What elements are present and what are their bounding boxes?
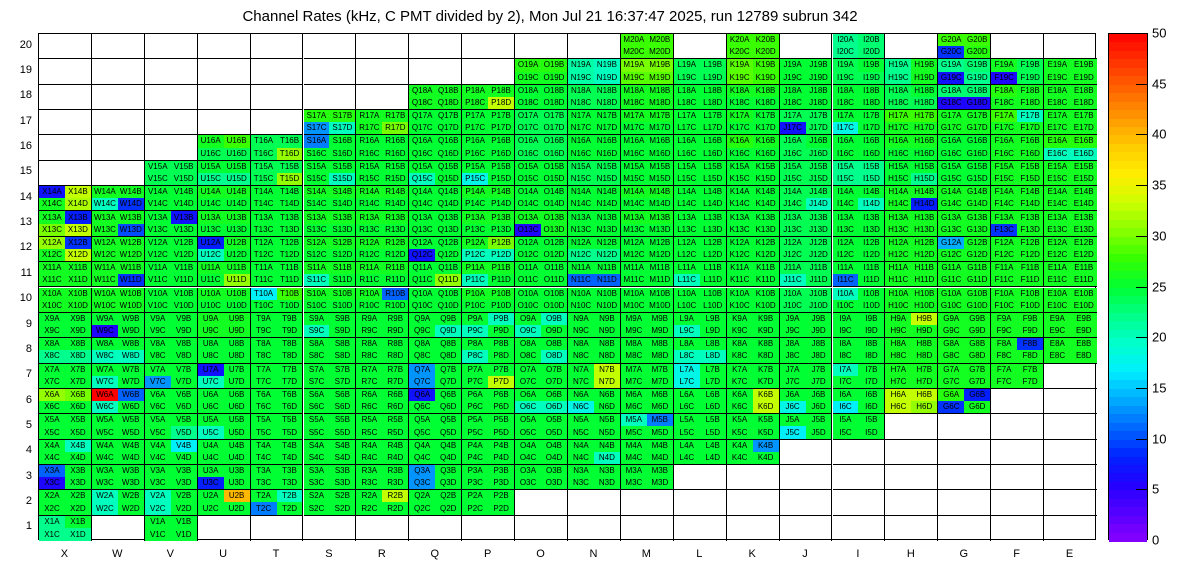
- channel-quadrant: K10B: [753, 288, 779, 300]
- channel-quadrant: J7B: [806, 364, 832, 376]
- heatmap-cell: [409, 516, 462, 541]
- channel-quadrant: I7D: [858, 376, 884, 388]
- channel-quadrant: L12A: [674, 237, 700, 249]
- channel-quadrant: G10B: [964, 288, 990, 300]
- channel-quadrant: T8C: [251, 350, 277, 362]
- channel-quadrant: X12B: [65, 237, 91, 249]
- channel-quadrant: H9A: [885, 313, 911, 325]
- channel-quadrant: Q3D: [435, 477, 461, 489]
- channel-quadrant: I18D: [858, 97, 884, 109]
- channel-quadrant: S17C: [304, 122, 330, 134]
- channel-quadrant: U9A: [198, 313, 224, 325]
- channel-quadrant: J15B: [806, 161, 832, 173]
- channel-quadrant: K12C: [727, 249, 753, 261]
- heatmap-cell: V13AV13BV13CV13D: [145, 211, 198, 236]
- heatmap-cell: O3AO3BO3CO3D: [515, 465, 568, 490]
- heatmap-cell: W7AW7BW7CW7D: [92, 364, 145, 389]
- heatmap-cell: L10AL10BL10CL10D: [674, 288, 727, 313]
- channel-quadrant: T9B: [277, 313, 303, 325]
- heatmap-cell: I5AI5BI5CI5D: [833, 414, 886, 439]
- channel-quadrant: X2A: [39, 490, 65, 502]
- colorbar-tick-label: 10: [1152, 431, 1166, 446]
- channel-quadrant: J12A: [780, 237, 806, 249]
- heatmap-cell: [1044, 516, 1097, 541]
- channel-quadrant: J13D: [806, 224, 832, 236]
- channel-quadrant: T12A: [251, 237, 277, 249]
- heatmap-cell: E18AE18BE18CE18D: [1044, 85, 1097, 110]
- page-title: Channel Rates (kHz, C PMT divided by 2),…: [0, 8, 1100, 25]
- channel-quadrant: R11D: [382, 274, 408, 286]
- channel-quadrant: P18C: [462, 97, 488, 109]
- channel-quadrant: T2B: [277, 490, 303, 502]
- channel-quadrant: P14B: [488, 186, 514, 198]
- channel-quadrant: K13B: [753, 211, 779, 223]
- channel-quadrant: R9C: [356, 325, 382, 337]
- heatmap-cell: [885, 34, 938, 59]
- channel-quadrant: K6A: [727, 389, 753, 401]
- channel-quadrant: V12B: [171, 237, 197, 249]
- heatmap-cell: M14AM14BM14CM14D: [621, 186, 674, 211]
- heatmap-cell: Q3AQ3BQ3CQ3D: [409, 465, 462, 490]
- heatmap-cell: G12AG12BG12CG12D: [938, 237, 991, 262]
- heatmap-cell: G6AG6BG6CG6D: [938, 389, 991, 414]
- channel-quadrant: R14D: [382, 198, 408, 210]
- channel-quadrant: N14D: [594, 198, 620, 210]
- channel-quadrant: J15C: [780, 173, 806, 185]
- channel-quadrant: J17B: [806, 110, 832, 122]
- channel-quadrant: O16B: [541, 135, 567, 147]
- channel-quadrant: G14A: [938, 186, 964, 198]
- heatmap-cell: E12AE12BE12CE12D: [1044, 237, 1097, 262]
- channel-quadrant: H17C: [885, 122, 911, 134]
- heatmap-cell: I9AI9BI9CI9D: [833, 313, 886, 338]
- heatmap-cell: [251, 59, 304, 84]
- colorbar-tick-label: 20: [1152, 330, 1166, 345]
- channel-quadrant: M19A: [621, 59, 647, 71]
- heatmap-cell: F13AF13BF13CF13D: [991, 211, 1044, 236]
- heatmap-cell: S5AS5BS5CS5D: [304, 414, 357, 439]
- channel-quadrant: P11A: [462, 262, 488, 274]
- y-axis-tick-label: 15: [2, 165, 32, 177]
- channel-quadrant: E16B: [1071, 135, 1097, 147]
- channel-quadrant: L5C: [674, 426, 700, 438]
- channel-quadrant: L13C: [674, 224, 700, 236]
- channel-quadrant: R17A: [356, 110, 382, 122]
- channel-quadrant: S11D: [329, 274, 355, 286]
- channel-quadrant: R8C: [356, 350, 382, 362]
- heatmap-cell: P2AP2BP2CP2D: [462, 490, 515, 515]
- channel-quadrant: M15A: [621, 161, 647, 173]
- channel-quadrant: V5A: [145, 414, 171, 426]
- channel-quadrant: Q18A: [409, 85, 435, 97]
- channel-quadrant: P5C: [462, 426, 488, 438]
- channel-quadrant: H9B: [911, 313, 937, 325]
- channel-quadrant: I14B: [858, 186, 884, 198]
- channel-quadrant: O10B: [541, 288, 567, 300]
- channel-quadrant: X9C: [39, 325, 65, 337]
- channel-quadrant: U3D: [224, 477, 250, 489]
- channel-quadrant: R10C: [356, 300, 382, 312]
- channel-quadrant: F11B: [1017, 262, 1043, 274]
- channel-quadrant: W8A: [92, 338, 118, 350]
- channel-quadrant: F16D: [1017, 148, 1043, 160]
- channel-quadrant: J17A: [780, 110, 806, 122]
- channel-quadrant: V8C: [145, 350, 171, 362]
- channel-quadrant: I8B: [858, 338, 884, 350]
- channel-quadrant: K5D: [753, 426, 779, 438]
- channel-quadrant: K9C: [727, 325, 753, 337]
- colorbar-tick-label: 25: [1152, 279, 1166, 294]
- heatmap-cell: O19AO19BO19CO19D: [515, 59, 568, 84]
- heatmap-cell: K12AK12BK12CK12D: [727, 237, 780, 262]
- channel-quadrant: M20B: [647, 34, 673, 46]
- channel-quadrant: I18C: [833, 97, 859, 109]
- channel-quadrant: N17D: [594, 122, 620, 134]
- channel-quadrant: N12B: [594, 237, 620, 249]
- channel-quadrant: V4D: [171, 452, 197, 464]
- channel-quadrant: X6A: [39, 389, 65, 401]
- channel-quadrant: O7A: [515, 364, 541, 376]
- channel-quadrant: I20A: [833, 34, 859, 46]
- channel-quadrant: G12C: [938, 249, 964, 261]
- channel-quadrant: O14B: [541, 186, 567, 198]
- heatmap-cell: L13AL13BL13CL13D: [674, 211, 727, 236]
- channel-quadrant: P9A: [462, 313, 488, 325]
- channel-quadrant: V1A: [145, 516, 171, 529]
- channel-quadrant: T10B: [277, 288, 303, 300]
- channel-quadrant: M4B: [647, 440, 673, 452]
- channel-quadrant: L12B: [700, 237, 726, 249]
- channel-quadrant: F18A: [991, 85, 1017, 97]
- channel-quadrant: R14B: [382, 186, 408, 198]
- channel-quadrant: R8B: [382, 338, 408, 350]
- heatmap-cell: F11AF11BF11CF11D: [991, 262, 1044, 287]
- channel-quadrant: N12A: [568, 237, 594, 249]
- channel-quadrant: X3A: [39, 465, 65, 477]
- channel-quadrant: K4C: [727, 452, 753, 464]
- heatmap-cell: Q4AQ4BQ4CQ4D: [409, 440, 462, 465]
- channel-quadrant: V2C: [145, 502, 171, 514]
- channel-quadrant: T9D: [277, 325, 303, 337]
- channel-quadrant: K9B: [753, 313, 779, 325]
- heatmap-cell: J7AJ7BJ7CJ7D: [780, 364, 833, 389]
- heatmap-cell: M15AM15BM15CM15D: [621, 161, 674, 186]
- heatmap-cell: P11AP11BP11CP11D: [462, 262, 515, 287]
- channel-quadrant: N14B: [594, 186, 620, 198]
- channel-quadrant: S9A: [304, 313, 330, 325]
- channel-quadrant: G17D: [964, 122, 990, 134]
- heatmap-cell: O5AO5BO5CO5D: [515, 414, 568, 439]
- heatmap-cell: [991, 465, 1044, 490]
- heatmap-cell: [198, 59, 251, 84]
- channel-quadrant: V9D: [171, 325, 197, 337]
- channel-quadrant: Q15A: [409, 161, 435, 173]
- channel-quadrant: G8D: [964, 350, 990, 362]
- channel-quadrant: O12D: [541, 249, 567, 261]
- channel-quadrant: F16A: [991, 135, 1017, 147]
- channel-quadrant: I5A: [833, 414, 859, 426]
- channel-quadrant: T5C: [251, 426, 277, 438]
- heatmap-cell: G17AG17BG17CG17D: [938, 110, 991, 135]
- heatmap-cell: T13AT13BT13CT13D: [251, 211, 304, 236]
- channel-quadrant: O13D: [541, 224, 567, 236]
- channel-quadrant: P16B: [488, 135, 514, 147]
- channel-quadrant: W7B: [118, 364, 144, 376]
- heatmap-cell: [780, 440, 833, 465]
- channel-quadrant: W8D: [118, 350, 144, 362]
- heatmap-cell: T2AT2BT2CT2D: [251, 490, 304, 515]
- channel-quadrant: J18A: [780, 85, 806, 97]
- heatmap-cell: [409, 59, 462, 84]
- channel-quadrant: T6A: [251, 389, 277, 401]
- channel-quadrant: K14D: [753, 198, 779, 210]
- channel-quadrant: P17D: [488, 122, 514, 134]
- channel-quadrant: G6C: [938, 401, 964, 413]
- channel-quadrant: I13C: [833, 224, 859, 236]
- channel-quadrant: T14B: [277, 186, 303, 198]
- channel-quadrant: U7B: [224, 364, 250, 376]
- channel-quadrant: G16B: [964, 135, 990, 147]
- heatmap-cell: [885, 490, 938, 515]
- y-axis-tick-label: 6: [2, 394, 32, 406]
- channel-quadrant: K11B: [753, 262, 779, 274]
- heatmap-cell: L18AL18BL18CL18D: [674, 85, 727, 110]
- channel-quadrant: Q4B: [435, 440, 461, 452]
- channel-quadrant: J9A: [780, 313, 806, 325]
- channel-quadrant: F10A: [991, 288, 1017, 300]
- x-axis-tick-label: E: [1043, 548, 1097, 560]
- heatmap-cell: N17AN17BN17CN17D: [568, 110, 621, 135]
- channel-quadrant: O5A: [515, 414, 541, 426]
- heatmap-cell: G15AG15BG15CG15D: [938, 161, 991, 186]
- channel-quadrant: Q8A: [409, 338, 435, 350]
- channel-quadrant: H15D: [911, 173, 937, 185]
- heatmap-cell: P8AP8BP8CP8D: [462, 338, 515, 363]
- channel-quadrant: S5A: [304, 414, 330, 426]
- y-axis-tick-label: 10: [2, 292, 32, 304]
- channel-quadrant: X12D: [65, 249, 91, 261]
- channel-quadrant: P16C: [462, 148, 488, 160]
- channel-quadrant: G14C: [938, 198, 964, 210]
- channel-quadrant: L18A: [674, 85, 700, 97]
- channel-quadrant: I18A: [833, 85, 859, 97]
- channel-quadrant: T3D: [277, 477, 303, 489]
- heatmap-cell: M8AM8BM8CM8D: [621, 338, 674, 363]
- channel-quadrant: V5D: [171, 426, 197, 438]
- channel-quadrant: W6D: [118, 401, 144, 413]
- channel-quadrant: P6A: [462, 389, 488, 401]
- heatmap-cell: O8AO8BO8CO8D: [515, 338, 568, 363]
- channel-quadrant: W14C: [92, 198, 118, 210]
- channel-quadrant: G9C: [938, 325, 964, 337]
- channel-quadrant: Q15C: [409, 173, 435, 185]
- channel-quadrant: M15D: [647, 173, 673, 185]
- channel-quadrant: M10B: [647, 288, 673, 300]
- heatmap-cell: V8AV8BV8CV8D: [145, 338, 198, 363]
- channel-quadrant: G8B: [964, 338, 990, 350]
- heatmap-cell: Q12AQ12BQ12CQ12D: [409, 237, 462, 262]
- channel-quadrant: H10B: [911, 288, 937, 300]
- channel-quadrant: N19B: [594, 59, 620, 71]
- channel-quadrant: E17B: [1071, 110, 1097, 122]
- channel-quadrant: L10A: [674, 288, 700, 300]
- heatmap-cell: R3AR3BR3CR3D: [356, 465, 409, 490]
- channel-quadrant: S10C: [304, 300, 330, 312]
- heatmap-cell: K18AK18BK18CK18D: [727, 85, 780, 110]
- channel-quadrant: M20C: [621, 46, 647, 58]
- channel-quadrant: P13B: [488, 211, 514, 223]
- channel-quadrant: S12B: [329, 237, 355, 249]
- channel-quadrant: Q8D: [435, 350, 461, 362]
- channel-quadrant: J18D: [806, 97, 832, 109]
- heatmap-cell: E9AE9BE9CE9D: [1044, 313, 1097, 338]
- channel-quadrant: R5C: [356, 426, 382, 438]
- channel-quadrant: K8D: [753, 350, 779, 362]
- channel-quadrant: I19D: [858, 72, 884, 84]
- channel-quadrant: H7C: [885, 376, 911, 388]
- channel-quadrant: N9C: [568, 325, 594, 337]
- channel-rate-heatmap: M20AM20BM20CM20DK20AK20BK20CK20DI20AI20B…: [38, 33, 1096, 540]
- channel-quadrant: I6D: [858, 401, 884, 413]
- channel-quadrant: K12A: [727, 237, 753, 249]
- heatmap-cell: Q11AQ11BQ11CQ11D: [409, 262, 462, 287]
- channel-quadrant: T4D: [277, 452, 303, 464]
- heatmap-cell: N7AN7BN7CN7D: [568, 364, 621, 389]
- channel-quadrant: P4B: [488, 440, 514, 452]
- channel-quadrant: O16D: [541, 148, 567, 160]
- channel-quadrant: F10D: [1017, 300, 1043, 312]
- channel-quadrant: J6C: [780, 401, 806, 413]
- channel-quadrant: V12C: [145, 249, 171, 261]
- channel-quadrant: V9C: [145, 325, 171, 337]
- channel-quadrant: T14D: [277, 198, 303, 210]
- channel-quadrant: F16C: [991, 148, 1017, 160]
- channel-quadrant: M7D: [647, 376, 673, 388]
- channel-quadrant: L6C: [674, 401, 700, 413]
- heatmap-cell: L12AL12BL12CL12D: [674, 237, 727, 262]
- channel-quadrant: O17B: [541, 110, 567, 122]
- channel-quadrant: W3C: [92, 477, 118, 489]
- channel-quadrant: Q12D: [435, 249, 461, 261]
- channel-quadrant: R15C: [356, 173, 382, 185]
- channel-quadrant: X13A: [39, 211, 65, 223]
- channel-quadrant: Q10A: [409, 288, 435, 300]
- channel-quadrant: I20D: [858, 46, 884, 58]
- channel-quadrant: G11C: [938, 274, 964, 286]
- heatmap-cell: [833, 516, 886, 541]
- heatmap-cell: [251, 516, 304, 541]
- heatmap-cell: [833, 465, 886, 490]
- heatmap-cell: K8AK8BK8CK8D: [727, 338, 780, 363]
- channel-quadrant: V4C: [145, 452, 171, 464]
- heatmap-cell: Q13AQ13BQ13CQ13D: [409, 211, 462, 236]
- heatmap-cell: R9AR9BR9CR9D: [356, 313, 409, 338]
- channel-quadrant: K16B: [753, 135, 779, 147]
- heatmap-cell: [1044, 465, 1097, 490]
- channel-quadrant: O13A: [515, 211, 541, 223]
- channel-quadrant: G15A: [938, 161, 964, 173]
- channel-quadrant: W2B: [118, 490, 144, 502]
- channel-quadrant: I7B: [858, 364, 884, 376]
- channel-quadrant: R5B: [382, 414, 408, 426]
- heatmap-cell: E14AE14BE14CE14D: [1044, 186, 1097, 211]
- channel-quadrant: P15B: [488, 161, 514, 173]
- heatmap-cell: N9AN9BN9CN9D: [568, 313, 621, 338]
- channel-quadrant: N16B: [594, 135, 620, 147]
- channel-quadrant: P7C: [462, 376, 488, 388]
- heatmap-cell: W12AW12BW12CW12D: [92, 237, 145, 262]
- channel-quadrant: F16B: [1017, 135, 1043, 147]
- heatmap-cell: I10AI10BI10CI10D: [833, 288, 886, 313]
- channel-quadrant: Q14A: [409, 186, 435, 198]
- channel-quadrant: G13D: [964, 224, 990, 236]
- channel-quadrant: N9D: [594, 325, 620, 337]
- channel-quadrant: K17B: [753, 110, 779, 122]
- heatmap-cell: O14AO14BO14CO14D: [515, 186, 568, 211]
- channel-quadrant: G20A: [938, 34, 964, 46]
- heatmap-cell: [991, 516, 1044, 541]
- channel-quadrant: O6A: [515, 389, 541, 401]
- channel-quadrant: M6C: [621, 401, 647, 413]
- channel-quadrant: H7D: [911, 376, 937, 388]
- channel-quadrant: L16C: [674, 148, 700, 160]
- channel-quadrant: S6B: [329, 389, 355, 401]
- y-axis-tick-label: 12: [2, 241, 32, 253]
- heatmap-cell: L5AL5BL5CL5D: [674, 414, 727, 439]
- channel-quadrant: J9C: [780, 325, 806, 337]
- channel-quadrant: U6C: [198, 401, 224, 413]
- heatmap-cell: R2AR2BR2CR2D: [356, 490, 409, 515]
- channel-quadrant: E11D: [1071, 274, 1097, 286]
- channel-quadrant: V7D: [171, 376, 197, 388]
- channel-quadrant: M4C: [621, 452, 647, 464]
- heatmap-cell: N8AN8BN8CN8D: [568, 338, 621, 363]
- channel-quadrant: U7A: [198, 364, 224, 376]
- channel-quadrant: T13D: [277, 224, 303, 236]
- channel-quadrant: V11B: [171, 262, 197, 274]
- heatmap-cell: M16AM16BM16CM16D: [621, 135, 674, 160]
- channel-quadrant: F19B: [1017, 59, 1043, 71]
- channel-quadrant: X14B: [65, 186, 91, 198]
- channel-quadrant: U3C: [198, 477, 224, 489]
- channel-quadrant: I19C: [833, 72, 859, 84]
- heatmap-cell: G11AG11BG11CG11D: [938, 262, 991, 287]
- channel-quadrant: S10D: [329, 300, 355, 312]
- channel-quadrant: U10C: [198, 300, 224, 312]
- channel-quadrant: W9B: [118, 313, 144, 325]
- channel-quadrant: I14C: [833, 198, 859, 210]
- heatmap-cell: [1044, 364, 1097, 389]
- heatmap-cell: K10AK10BK10CK10D: [727, 288, 780, 313]
- channel-quadrant: M9D: [647, 325, 673, 337]
- heatmap-cell: K14AK14BK14CK14D: [727, 186, 780, 211]
- channel-quadrant: R13A: [356, 211, 382, 223]
- channel-quadrant: W9A: [92, 313, 118, 325]
- channel-quadrant: Q2D: [435, 502, 461, 514]
- channel-quadrant: J12C: [780, 249, 806, 261]
- channel-quadrant: P7A: [462, 364, 488, 376]
- channel-quadrant: T11D: [277, 274, 303, 286]
- channel-quadrant: T16B: [277, 135, 303, 147]
- channel-quadrant: N16C: [568, 148, 594, 160]
- heatmap-cell: [356, 34, 409, 59]
- channel-quadrant: U11A: [198, 262, 224, 274]
- channel-quadrant: G20B: [964, 34, 990, 46]
- channel-quadrant: R11C: [356, 274, 382, 286]
- channel-quadrant: O3C: [515, 477, 541, 489]
- channel-quadrant: R2A: [356, 490, 382, 502]
- channel-quadrant: K9D: [753, 325, 779, 337]
